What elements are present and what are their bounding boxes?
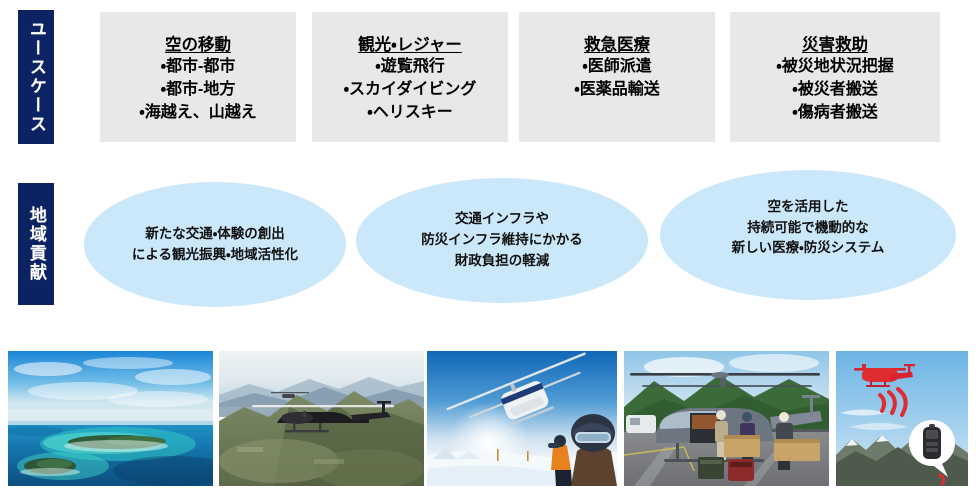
usecase-item: ・海越え、山越え	[139, 102, 256, 125]
section-label-contribution: 地域貢献	[18, 183, 54, 305]
usecase-box-emergency-medical: 救急医療 ・医師派遣 ・医薬品輸送	[519, 12, 715, 142]
contribution-line: 防災インフラ維持にかかる	[421, 230, 583, 251]
section-label-usecase: ユースケース	[18, 10, 54, 144]
contribution-text: 交通インフラや 防災インフラ維持にかかる 財政負担の軽減	[421, 209, 583, 272]
usecase-item: ・スカイダイビング	[344, 79, 477, 102]
contribution-ellipse-tourism: 新たな交通・体験の創出 による観光振興・地域活性化	[84, 182, 346, 307]
usecase-item: ・ヘリスキー	[367, 102, 452, 125]
rescue-helicopter-signal-illustration	[836, 351, 968, 486]
contribution-ellipse-medical-disaster: 空を活用した 持続可能で機動的な 新しい医療・防災システム	[660, 170, 956, 300]
heliski-snow-photo	[427, 351, 617, 486]
usecase-item: ・傷病者搬送	[792, 102, 877, 125]
usecase-box-disaster-relief: 災害救助 ・被災地状況把握 ・被災者搬送 ・傷病者搬送	[730, 12, 940, 142]
usecase-item: ・遊覧飛行	[375, 56, 444, 79]
usecase-item: ・被災地状況把握	[776, 56, 893, 79]
section-label-usecase-text: ユースケース	[27, 20, 45, 134]
usecase-title: 災害救助	[802, 34, 868, 56]
helicopter-cargo-loading-photo	[624, 351, 829, 486]
usecase-item: ・都市-地方	[161, 79, 236, 102]
contribution-line: 新しい医療・防災システム	[732, 238, 885, 259]
section-label-contribution-text: 地域貢献	[27, 206, 45, 282]
usecase-item: ・医薬品輸送	[574, 79, 659, 102]
contribution-text: 新たな交通・体験の創出 による観光振興・地域活性化	[132, 224, 298, 266]
contribution-line: 持続可能で機動的な	[732, 218, 885, 239]
contribution-line: による観光振興・地域活性化	[132, 245, 298, 266]
contribution-line: 交通インフラや	[421, 209, 583, 230]
contribution-ellipse-infrastructure: 交通インフラや 防災インフラ維持にかかる 財政負担の軽減	[356, 178, 648, 303]
usecase-title: 救急医療	[584, 34, 650, 56]
contribution-line: 新たな交通・体験の創出	[132, 224, 298, 245]
usecase-title: 空の移動	[165, 34, 231, 56]
usecase-item: ・都市-都市	[161, 56, 236, 79]
usecase-title: 観光・レジャー	[358, 34, 462, 56]
helicopter-over-mountains-photo	[219, 351, 424, 486]
contribution-text: 空を活用した 持続可能で機動的な 新しい医療・防災システム	[732, 197, 885, 260]
slide-canvas: ユースケース 地域貢献 空の移動 ・都市-都市 ・都市-地方 ・海越え、山越え …	[0, 0, 976, 492]
contribution-line: 財政負担の軽減	[421, 251, 583, 272]
usecase-item: ・医師派遣	[582, 56, 651, 79]
aerial-tropical-islands-photo	[8, 351, 213, 486]
usecase-item: ・被災者搬送	[792, 79, 877, 102]
usecase-box-air-mobility: 空の移動 ・都市-都市 ・都市-地方 ・海越え、山越え	[100, 12, 296, 142]
usecase-box-tourism-leisure: 観光・レジャー ・遊覧飛行 ・スカイダイビング ・ヘリスキー	[312, 12, 508, 142]
contribution-line: 空を活用した	[732, 197, 885, 218]
